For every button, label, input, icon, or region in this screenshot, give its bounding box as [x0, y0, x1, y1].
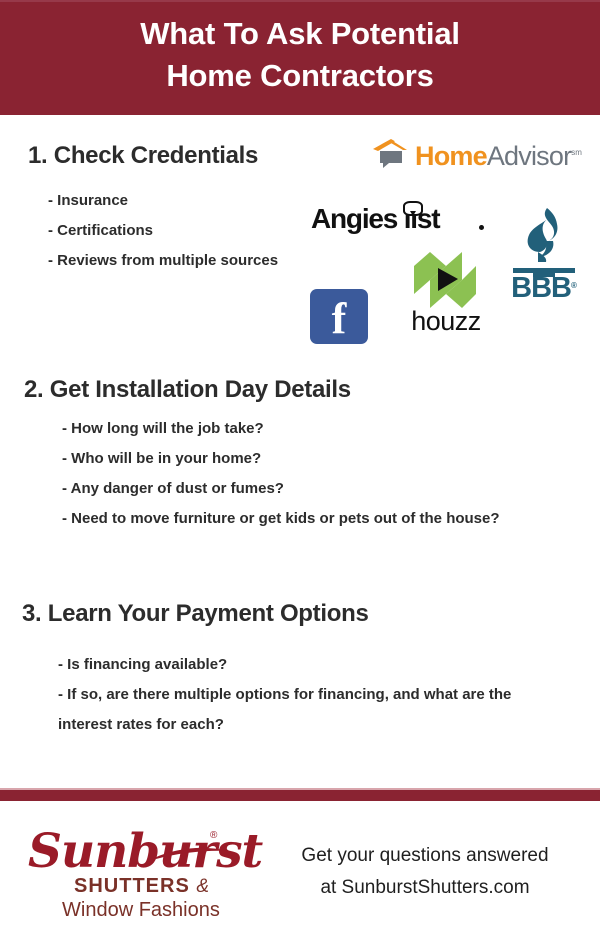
- section-1-bullet-list: - Insurance - Certifications - Reviews f…: [48, 186, 308, 276]
- list-item: - If so, are there multiple options for …: [58, 680, 568, 740]
- sunburst-registered-mark: ®: [210, 830, 217, 841]
- facebook-logo: f: [310, 289, 368, 344]
- list-item: - Any danger of dust or fumes?: [62, 474, 562, 504]
- section-1-heading: 1. Check Credentials: [28, 142, 258, 170]
- bbb-letters: BBB: [511, 272, 571, 304]
- torch-flame-icon: [521, 208, 567, 266]
- list-item: - Insurance: [48, 186, 308, 216]
- section-2-bullet-list: - How long will the job take? - Who will…: [62, 414, 562, 534]
- section-3-heading: 3. Learn Your Payment Options: [22, 600, 369, 628]
- sunburst-window-fashions-text: Window Fashions: [62, 898, 247, 922]
- list-item: - How long will the job take?: [62, 414, 562, 444]
- houzz-h-mark-icon: [414, 252, 476, 308]
- list-item: - Certifications: [48, 216, 308, 246]
- shutters-word: SHUTTERS: [74, 875, 190, 897]
- sunburst-logo: Sunburst ® SHUTTERS & Window Fashions: [28, 824, 238, 924]
- section-3-bullet-list: - Is financing available? - If so, are t…: [58, 650, 568, 740]
- bbb-wordmark: BBB®: [505, 270, 583, 304]
- speech-bubble-icon: [403, 201, 423, 216]
- bbb-logo: BBB®: [505, 208, 583, 304]
- footer-cta-text: Get your questions answered at SunburstS…: [260, 840, 590, 904]
- list-item: - Need to move furniture or get kids or …: [62, 504, 562, 534]
- footer-divider-bar: [0, 790, 600, 801]
- angies-list-period: [479, 225, 484, 230]
- houzz-wordmark: houzz: [402, 304, 490, 338]
- header-banner: What To Ask Potential Home Contractors: [0, 0, 600, 115]
- footer-divider-hairline: [0, 788, 600, 790]
- home-advisor-logo: HomeAdvisorsm: [371, 136, 579, 172]
- list-item: - Who will be in your home?: [62, 444, 562, 474]
- home-advisor-wordmark: HomeAdvisorsm: [415, 138, 582, 171]
- sunburst-shutters-text: SHUTTERS &: [74, 874, 244, 899]
- bbb-registered-mark: ®: [571, 281, 577, 290]
- sunburst-swash-icon: [154, 846, 230, 860]
- footer-cta-line-1: Get your questions answered: [260, 840, 590, 872]
- ampersand-glyph: &: [196, 876, 210, 897]
- header-top-hairline: [0, 0, 600, 2]
- section-2-heading: 2. Get Installation Day Details: [24, 376, 351, 404]
- footer-cta-line-2: at SunburstShutters.com: [260, 872, 590, 904]
- list-item: - Reviews from multiple sources: [48, 246, 308, 276]
- page-title-line-1: What To Ask Potential: [0, 13, 600, 55]
- house-speech-bubble-icon: [371, 139, 411, 169]
- page-title: What To Ask Potential Home Contractors: [0, 13, 600, 97]
- infographic-page: What To Ask Potential Home Contractors 1…: [0, 0, 600, 935]
- page-title-line-2: Home Contractors: [0, 55, 600, 97]
- angies-list-logo: Angies list: [311, 203, 491, 237]
- list-item: - Is financing available?: [58, 650, 568, 680]
- home-advisor-sm-mark: sm: [571, 148, 582, 157]
- houzz-logo: houzz: [402, 252, 490, 338]
- home-advisor-word-advisor: Advisor: [487, 141, 571, 171]
- home-advisor-word-home: Home: [415, 141, 487, 171]
- facebook-f-glyph: f: [310, 291, 368, 347]
